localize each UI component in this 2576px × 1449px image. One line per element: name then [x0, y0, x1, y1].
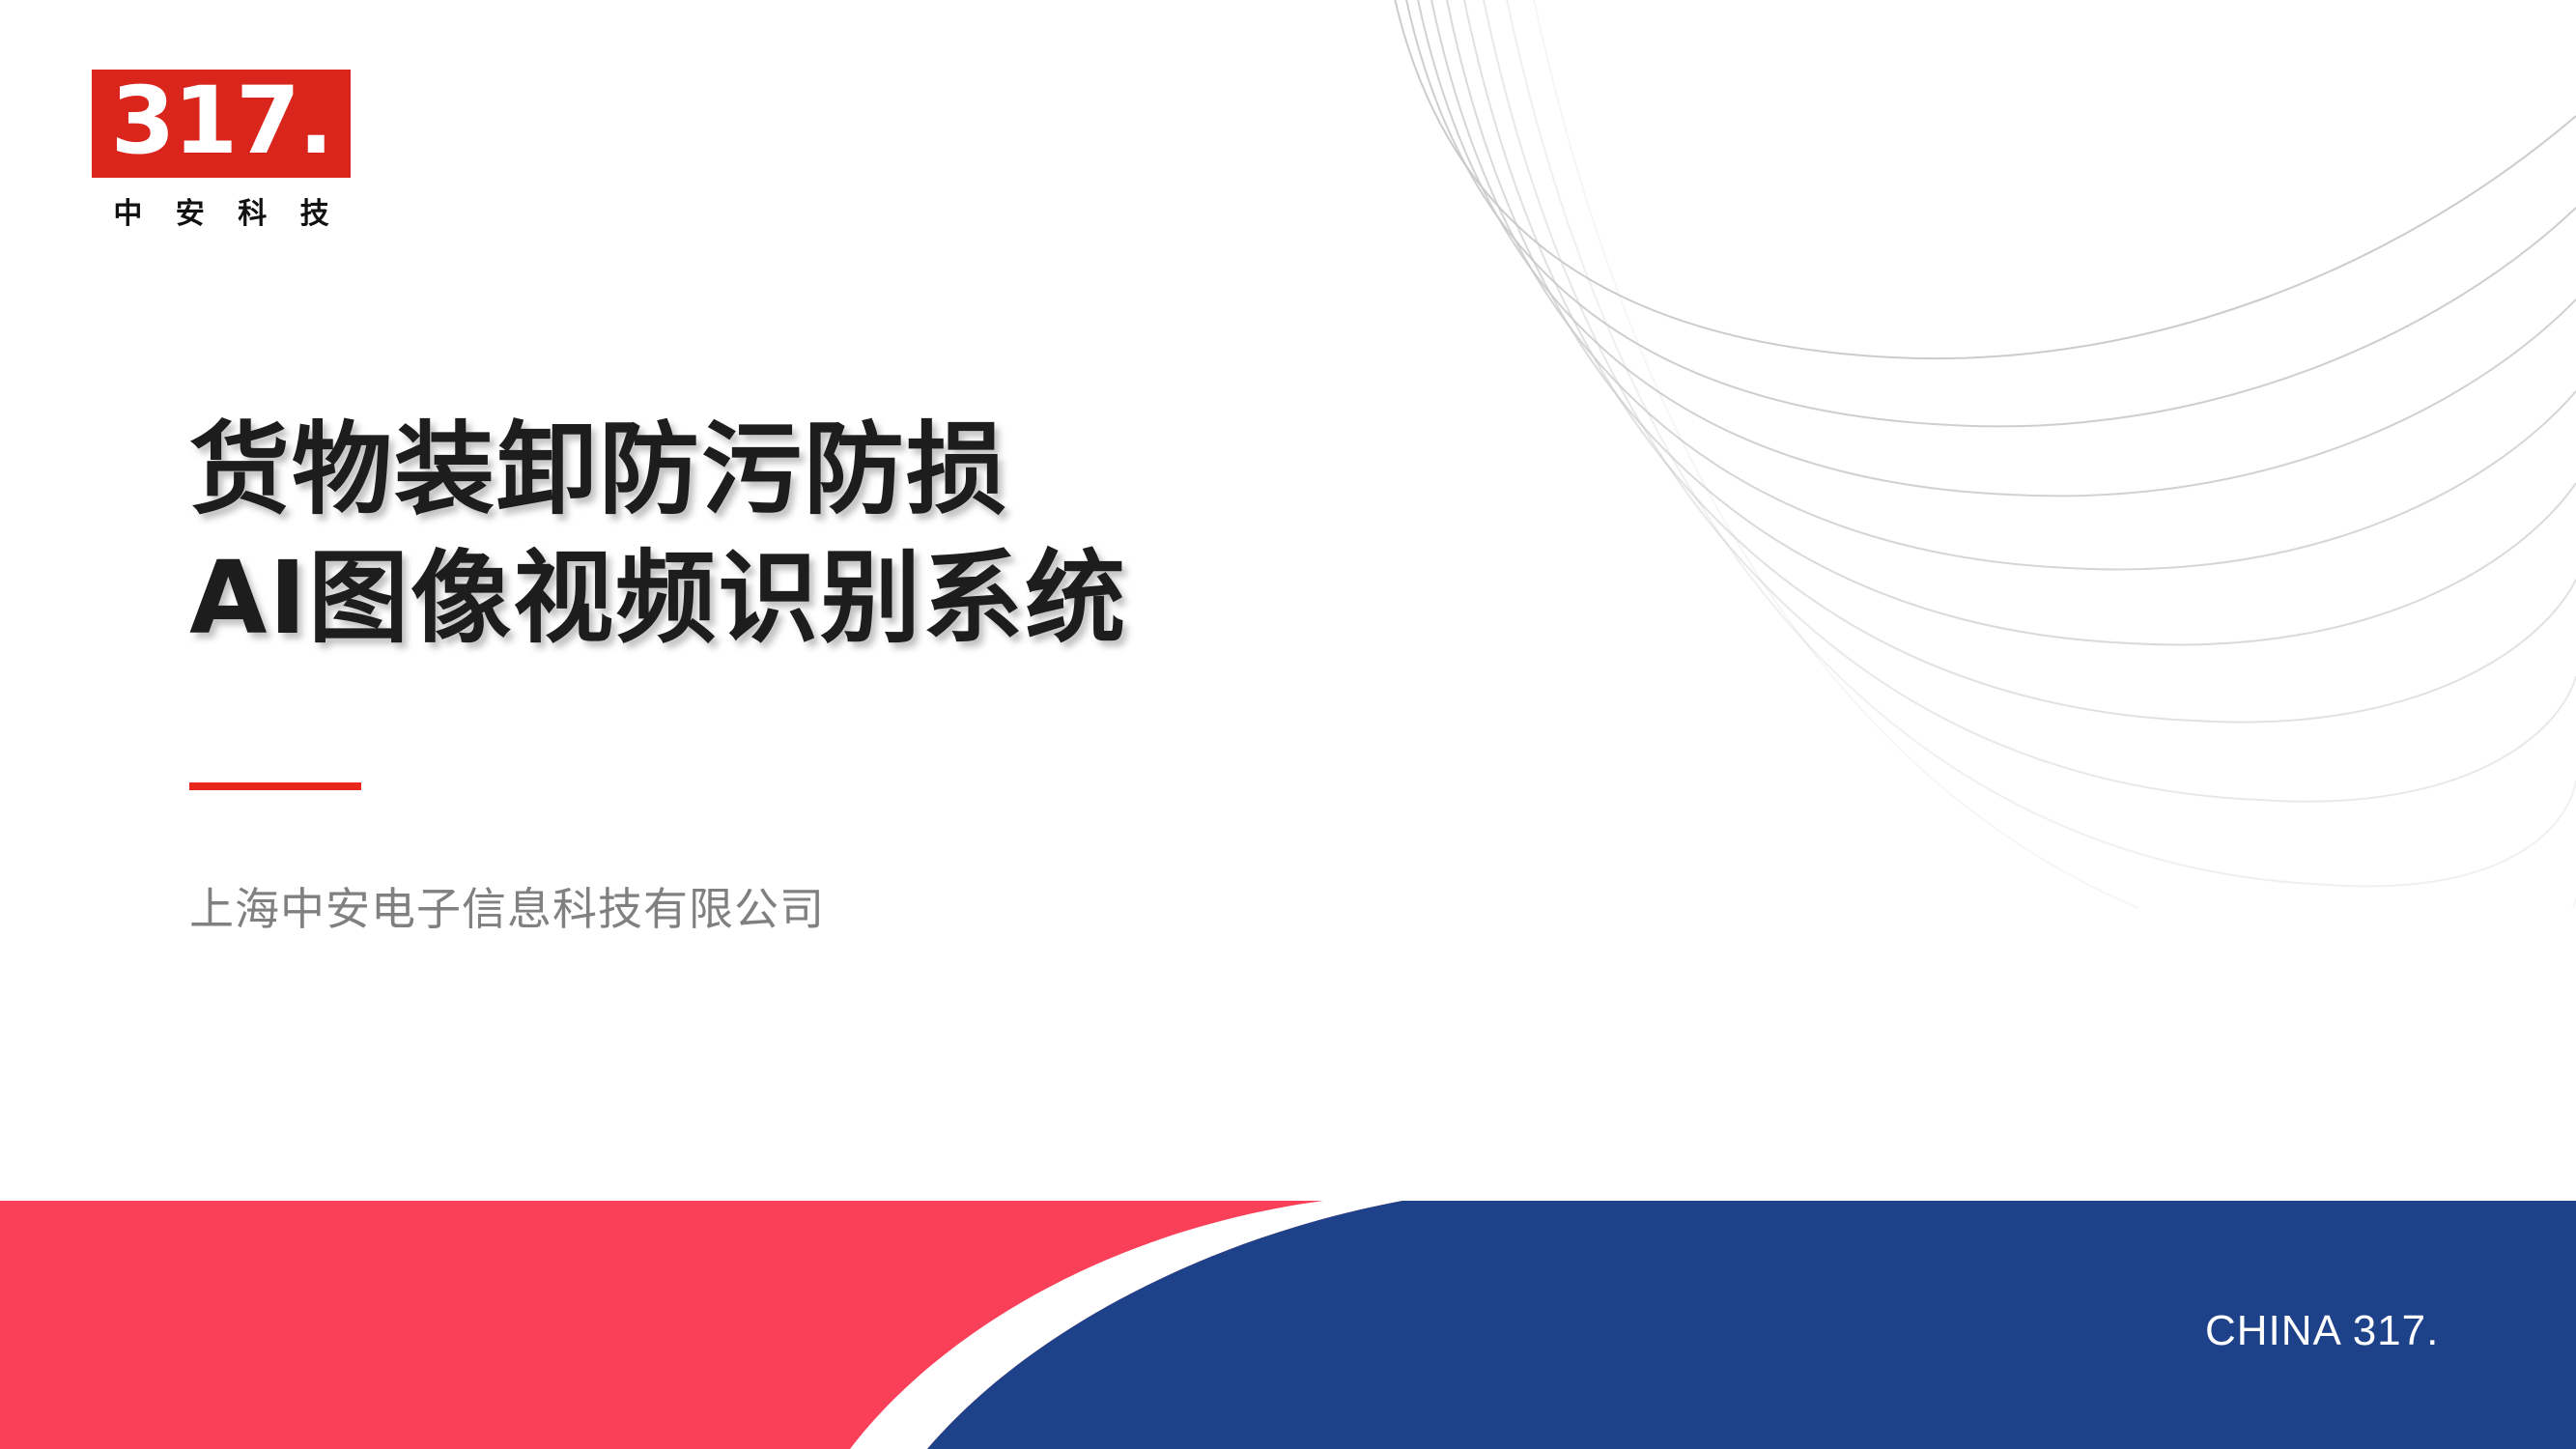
- page-title-line-2: AI图像视频识别系统: [189, 534, 1445, 663]
- decorative-curve-fan-icon: [1352, 0, 2576, 908]
- page-title-line-1: 货物装卸防污防损: [189, 406, 1445, 534]
- page-title: 货物装卸防污防损 AI图像视频识别系统: [189, 406, 1445, 663]
- footer-brand-text: CHINA 317.: [2205, 1307, 2439, 1355]
- company-full-name: 上海中安电子信息科技有限公司: [189, 874, 825, 938]
- company-logo: 317. 中 安 科 技: [92, 70, 351, 232]
- logo-badge-text: 317.: [111, 74, 332, 167]
- logo-badge: 317.: [92, 70, 351, 178]
- title-accent-rule: [189, 782, 361, 790]
- slide-canvas: 317. 中 安 科 技 货物装卸防污防损 AI图像视频识别系统 上海中安电子信…: [0, 0, 2576, 1449]
- footer-banner-shapes: [0, 1201, 2576, 1449]
- footer-banner: CHINA 317.: [0, 1201, 2576, 1449]
- logo-company-short-name: 中 安 科 技: [92, 189, 351, 232]
